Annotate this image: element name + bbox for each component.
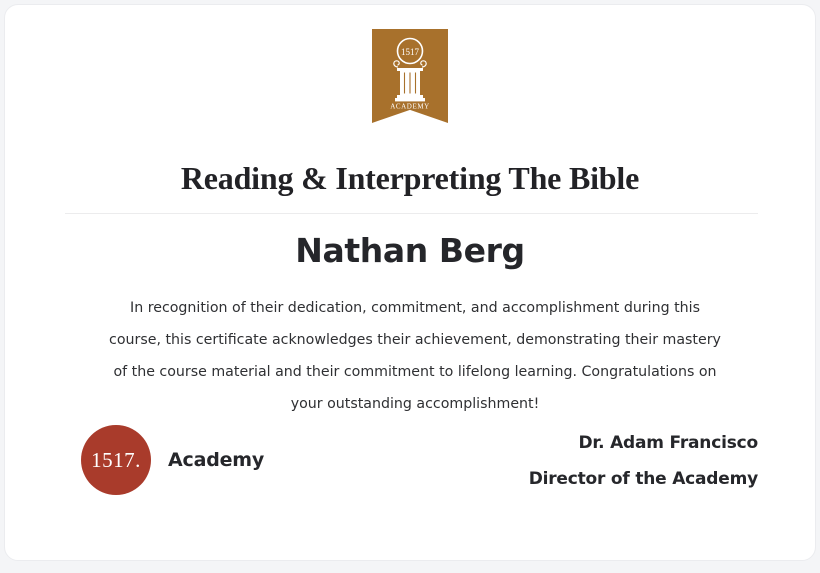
section-divider [65,213,758,214]
seal-year-label: 1517. [91,448,141,473]
course-title: Reading & Interpreting The Bible [5,160,815,197]
certificate-card: 1517 ACADEMY Reading & Interpreting The … [4,4,816,561]
citation-line: your outstanding accomplishment! [67,388,763,420]
signatory-name: Dr. Adam Francisco [529,425,758,461]
academy-logo-svg: 1517 ACADEMY [381,35,439,111]
citation-line: of the course material and their commitm… [67,356,763,388]
academy-seal-icon: 1517. [81,425,151,495]
logo-container: 1517 ACADEMY [5,29,815,123]
svg-text:1517: 1517 [401,47,420,57]
certificate-footer: 1517. Academy Dr. Adam Francisco Directo… [67,425,758,505]
recipient-name: Nathan Berg [5,231,815,270]
citation-line: course, this certificate acknowledges th… [67,324,763,356]
svg-text:ACADEMY: ACADEMY [390,103,430,111]
signatory-role: Director of the Academy [529,461,758,497]
citation-line: In recognition of their dedication, comm… [67,292,763,324]
signature-block: Dr. Adam Francisco Director of the Acade… [529,425,758,497]
academy-wordmark: Academy [168,449,264,471]
citation-body: In recognition of their dedication, comm… [67,292,763,420]
academy-seal-group: 1517. Academy [81,425,264,495]
academy-column-banner-icon: 1517 ACADEMY [372,29,448,123]
